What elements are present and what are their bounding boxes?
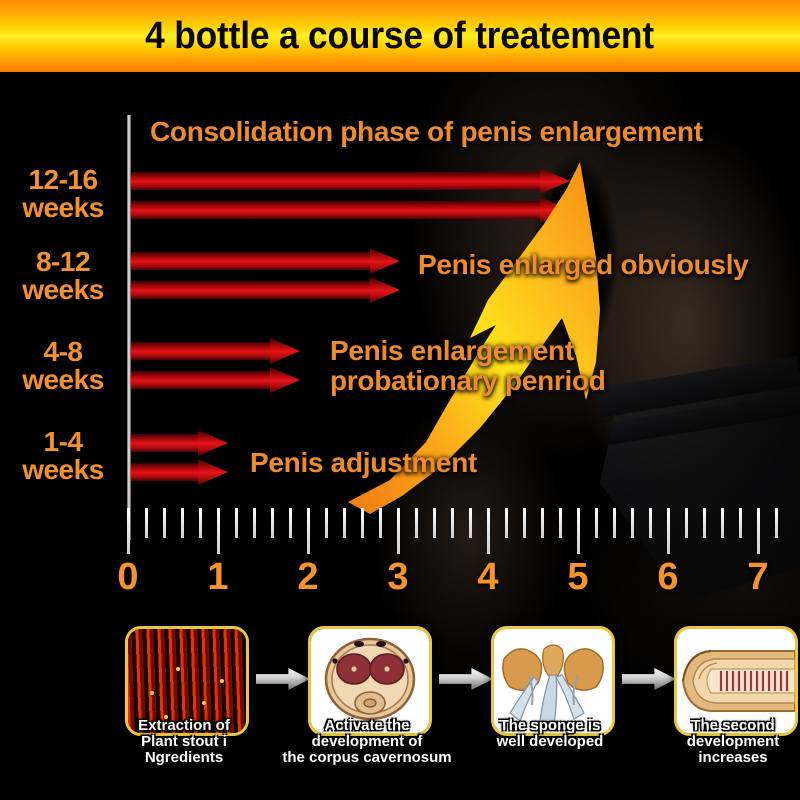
ruler-tick-minor — [469, 508, 472, 538]
ruler-tick-minor — [289, 508, 292, 538]
caption-line: development of — [272, 734, 462, 750]
phase-caption-4-8-line2: probationary penriod — [330, 366, 606, 396]
phase-caption-12-16: Consolidation phase of penis enlargement — [150, 117, 703, 147]
ruler-tick-major — [577, 508, 580, 554]
week-label-4-8: 4-8 weeks — [0, 338, 126, 394]
week-label-12-16: 12-16 weeks — [0, 166, 126, 222]
panel-activate-caption: Activate the development of the corpus c… — [272, 718, 462, 767]
axis-number-6: 6 — [648, 556, 688, 599]
ruler-tick-minor — [595, 508, 598, 538]
page-title: 4 bottle a course of treatement — [146, 15, 655, 58]
panel-second-development-caption: The second development increases — [638, 718, 800, 767]
week-label-1-4: 1-4 weeks — [0, 428, 126, 484]
ruler-tick-major — [217, 508, 220, 554]
ruler-tick-major — [127, 508, 130, 554]
ruler-tick-minor — [559, 508, 562, 538]
caption-line: The sponge is — [455, 718, 645, 734]
process-panel-strip: Extraction of Plant stout i Ngredients — [0, 618, 800, 800]
caption-line: increases — [638, 750, 800, 766]
week-label-12-16-unit: weeks — [0, 194, 126, 222]
week-label-8-12-range: 8-12 — [36, 246, 90, 277]
bar-arrow-shaft — [131, 463, 198, 481]
bar-arrow-shaft — [131, 342, 270, 360]
ruler-tick-major — [757, 508, 760, 554]
panel-extraction-caption: Extraction of Plant stout i Ngredients — [89, 718, 279, 767]
ruler-tick-minor — [379, 508, 382, 538]
caption-line: the corpus cavernosum — [272, 750, 462, 766]
caption-line: development — [638, 734, 800, 750]
caption-line: Activate the — [272, 718, 462, 734]
ruler-tick-major — [667, 508, 670, 554]
bar-arrow-head — [198, 459, 228, 485]
ruler-tick-major — [307, 508, 310, 554]
ruler-tick-minor — [163, 508, 166, 538]
caption-line: Plant stout i — [89, 734, 279, 750]
ruler-tick-minor — [235, 508, 238, 538]
ruler-tick-minor — [721, 508, 724, 538]
caption-line: The second — [638, 718, 800, 734]
bar-arrow-head — [198, 430, 228, 456]
gray-arrow-3-icon — [622, 668, 676, 690]
axis-number-3: 3 — [378, 556, 418, 599]
ruler-tick-minor — [181, 508, 184, 538]
caption-line: Extraction of — [89, 718, 279, 734]
axis-number-0: 0 — [108, 556, 148, 599]
ruler-tick-minor — [361, 508, 364, 538]
ruler-tick-minor — [739, 508, 742, 538]
ruler-tick-minor — [451, 508, 454, 538]
week-label-12-16-range: 12-16 — [28, 164, 97, 195]
ruler-tick-minor — [631, 508, 634, 538]
ruler-tick-minor — [685, 508, 688, 538]
bar-arrow-shaft — [131, 434, 198, 452]
week-label-8-12: 8-12 weeks — [0, 248, 126, 304]
ruler-tick-major — [397, 508, 400, 554]
bar-arrow-1-4-a — [131, 430, 228, 456]
ruler-tick-minor — [199, 508, 202, 538]
caption-line: well developed — [455, 734, 645, 750]
infographic-root: 4 bottle a course of treatement 12-16 we… — [0, 0, 800, 800]
header-banner: 4 bottle a course of treatement — [0, 0, 800, 72]
ruler-tick-minor — [703, 508, 706, 538]
ruler-tick-minor — [415, 508, 418, 538]
bar-arrow-4-8-a — [131, 338, 300, 364]
axis-number-2: 2 — [288, 556, 328, 599]
axis-number-4: 4 — [468, 556, 508, 599]
bar-arrow-shaft — [131, 371, 270, 389]
gray-arrow-1-icon — [256, 668, 310, 690]
ruler-scale — [127, 508, 792, 556]
ruler-tick-minor — [613, 508, 616, 538]
phase-caption-8-12: Penis enlarged obviously — [418, 250, 748, 280]
ruler-tick-minor — [505, 508, 508, 538]
week-label-1-4-unit: weeks — [0, 456, 126, 484]
bar-arrow-head — [270, 338, 300, 364]
week-label-4-8-range: 4-8 — [44, 336, 83, 367]
caption-line: Ngredients — [89, 750, 279, 766]
ruler-tick-minor — [271, 508, 274, 538]
ruler-tick-minor — [253, 508, 256, 538]
panel-sponge-caption: The sponge is well developed — [455, 718, 645, 750]
ruler-tick-minor — [523, 508, 526, 538]
ruler-tick-minor — [433, 508, 436, 538]
ruler-tick-minor — [649, 508, 652, 538]
ruler-tick-minor — [775, 508, 778, 538]
bar-arrow-1-4-b — [131, 459, 228, 485]
bar-arrow-head — [270, 367, 300, 393]
ruler-tick-minor — [145, 508, 148, 538]
ruler-tick-major — [487, 508, 490, 554]
week-label-1-4-range: 1-4 — [44, 426, 83, 457]
axis-number-7: 7 — [738, 556, 778, 599]
phase-caption-4-8: Penis enlargement probationary penriod — [330, 336, 606, 396]
week-label-8-12-unit: weeks — [0, 276, 126, 304]
phase-caption-4-8-line1: Penis enlargement — [330, 336, 606, 366]
ruler-tick-minor — [541, 508, 544, 538]
axis-number-5: 5 — [558, 556, 598, 599]
ruler-tick-minor — [325, 508, 328, 538]
gray-arrow-2-icon — [439, 668, 493, 690]
week-label-4-8-unit: weeks — [0, 366, 126, 394]
ruler-tick-minor — [343, 508, 346, 538]
bar-arrow-4-8-b — [131, 367, 300, 393]
axis-number-1: 1 — [198, 556, 238, 599]
phase-caption-1-4: Penis adjustment — [250, 448, 477, 478]
